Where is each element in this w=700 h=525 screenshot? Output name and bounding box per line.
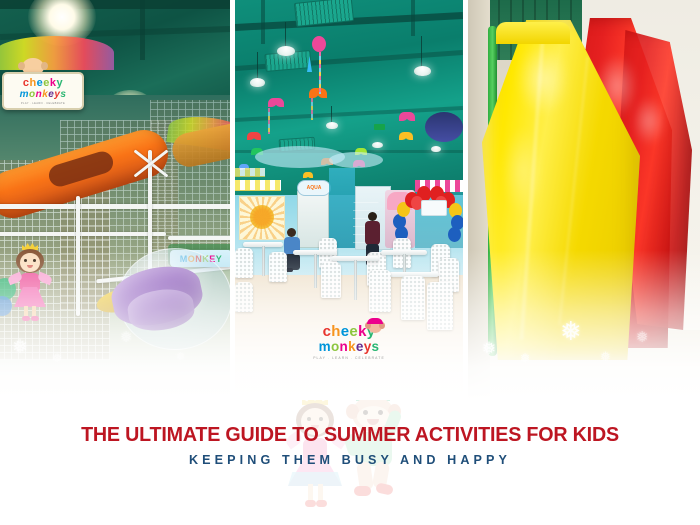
princess-monkey-cutout bbox=[6, 246, 54, 322]
party-sign bbox=[421, 200, 447, 216]
safety-rail bbox=[0, 232, 166, 236]
safety-rail bbox=[168, 236, 230, 240]
slide-highlight bbox=[502, 126, 542, 216]
pendant-lamp bbox=[277, 46, 295, 56]
dark-dome-decor bbox=[425, 112, 463, 142]
shop-awning bbox=[235, 180, 281, 191]
sun-rays bbox=[240, 197, 284, 239]
slide-highlight bbox=[632, 96, 666, 146]
cafe-chair[interactable] bbox=[369, 270, 391, 312]
promo-banner: cheeky monkeys PLAY . LEARN . CELEBRATE bbox=[0, 0, 700, 525]
ceiling-beam bbox=[411, 0, 415, 36]
pendant-lamp bbox=[372, 142, 383, 148]
panel-cafe-seating: AQUA bbox=[235, 0, 463, 400]
safety-rail bbox=[0, 204, 230, 209]
slides-scene: ❅ ❅ ❅ ❅ ❅ bbox=[468, 0, 700, 400]
panel-slides: ❅ ❅ ❅ ❅ ❅ bbox=[468, 0, 700, 400]
skirt-shape bbox=[14, 287, 46, 307]
pendant-cord bbox=[421, 36, 422, 66]
rail-post bbox=[76, 196, 80, 316]
pendant-cord bbox=[257, 52, 258, 78]
cafe-chair[interactable] bbox=[235, 282, 253, 312]
cafe-chair[interactable] bbox=[321, 262, 341, 298]
pendant-lamp bbox=[250, 78, 265, 87]
caption-area: THE ULTIMATE GUIDE TO SUMMER ACTIVITIES … bbox=[0, 400, 700, 525]
watermark-brand-line1: cheeky bbox=[235, 324, 463, 339]
hanging-streamer bbox=[311, 98, 313, 120]
cafe-chair[interactable] bbox=[401, 276, 425, 320]
page-title: THE ULTIMATE GUIDE TO SUMMER ACTIVITIES … bbox=[14, 425, 686, 446]
pendant-lamp bbox=[414, 66, 431, 76]
shop-awning bbox=[235, 168, 265, 177]
cheeky-monkeys-sign: cheeky monkeys PLAY . LEARN . CELEBRATE bbox=[2, 72, 84, 110]
hanging-streamer bbox=[319, 52, 321, 94]
monkey-ear-decor bbox=[18, 62, 25, 70]
slide-highlight bbox=[516, 42, 570, 116]
cafe-chair[interactable] bbox=[427, 282, 453, 330]
cafe-chair[interactable] bbox=[235, 248, 253, 278]
playground-scene: cheeky monkeys PLAY . LEARN . CELEBRATE bbox=[0, 0, 230, 400]
cheeky-monkeys-watermark: cheeky monkeys PLAY . LEARN . CELEBRATE bbox=[235, 324, 463, 360]
monkey-ear-decor bbox=[41, 62, 48, 70]
shoe-shape bbox=[31, 316, 39, 321]
sun-mural bbox=[239, 196, 285, 240]
watermark-tagline: PLAY . LEARN . CELEBRATE bbox=[235, 356, 463, 360]
eye-shape bbox=[24, 259, 27, 262]
shoe-shape bbox=[22, 316, 30, 321]
panel-indoor-playground: cheeky monkeys PLAY . LEARN . CELEBRATE bbox=[0, 0, 230, 400]
exit-sign bbox=[374, 124, 385, 130]
face-shape bbox=[20, 253, 40, 272]
wall-column bbox=[329, 168, 355, 248]
watermark-brand-line2: monkeys bbox=[235, 340, 463, 354]
sign-brand-line1: cheeky bbox=[23, 78, 63, 89]
sign-brand-line2: monkeys bbox=[20, 90, 67, 100]
painted-cloud bbox=[329, 152, 383, 168]
monkey-mascot-icon bbox=[365, 318, 385, 336]
image-strip: cheeky monkeys PLAY . LEARN . CELEBRATE bbox=[0, 0, 700, 400]
slide-top-lip bbox=[496, 22, 570, 44]
ceiling-beam bbox=[140, 0, 145, 60]
room-sign: AQUA bbox=[297, 180, 331, 196]
hanging-streamer bbox=[268, 108, 270, 134]
pendant-cord bbox=[285, 22, 286, 46]
page-subtitle: KEEPING THEM BUSY AND HAPPY bbox=[0, 454, 700, 467]
ceiling-beam bbox=[261, 0, 265, 44]
sign-tagline: PLAY . LEARN . CELEBRATE bbox=[21, 102, 65, 105]
pendant-lamp bbox=[326, 122, 338, 129]
cafe-chair[interactable] bbox=[269, 252, 287, 282]
cafe-scene: AQUA bbox=[235, 0, 463, 400]
pendant-cord bbox=[331, 106, 332, 122]
pendant-lamp bbox=[431, 146, 441, 152]
eye-shape bbox=[33, 259, 36, 262]
